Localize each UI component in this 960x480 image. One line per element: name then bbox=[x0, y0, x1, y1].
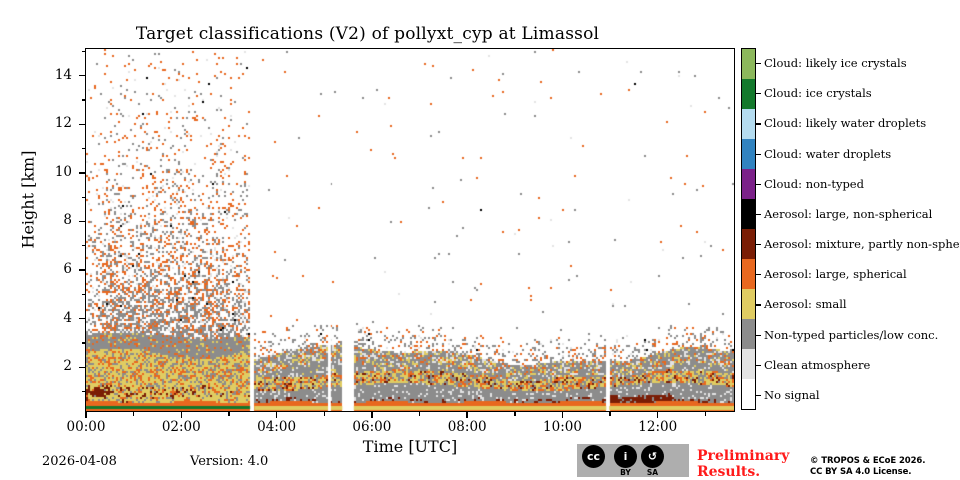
cc-by-label: BY bbox=[620, 468, 631, 477]
cc-logo-icon: cc bbox=[582, 445, 605, 477]
copyright-line-2: CC BY SA 4.0 License. bbox=[810, 467, 925, 478]
x-tick-label: 12:00 bbox=[623, 419, 693, 435]
cc-sa-label: SA bbox=[647, 468, 658, 477]
footer-date: 2026-04-08 bbox=[42, 454, 117, 469]
x-tick bbox=[371, 412, 372, 418]
legend-tick bbox=[756, 395, 761, 396]
x-tick bbox=[85, 412, 86, 418]
y-tick-minor bbox=[82, 148, 86, 149]
legend-tick bbox=[756, 214, 761, 215]
legend-tick bbox=[756, 365, 761, 366]
legend-swatch bbox=[742, 109, 755, 139]
legend-colorbar bbox=[741, 48, 756, 410]
cc-circle-icon: cc bbox=[582, 445, 605, 468]
legend-tick bbox=[756, 244, 761, 245]
x-tick-label: 02:00 bbox=[146, 419, 216, 435]
preliminary-line-1: Preliminary bbox=[697, 448, 805, 464]
legend-swatch bbox=[742, 79, 755, 109]
x-tick bbox=[181, 412, 182, 418]
legend-ticks bbox=[756, 48, 762, 410]
legend-label: Aerosol: mixture, partly non-spherical bbox=[764, 237, 960, 251]
footer-version: Version: 4.0 bbox=[190, 454, 268, 469]
y-tick-label: 4 bbox=[0, 310, 72, 326]
y-tick-minor bbox=[82, 245, 86, 246]
y-axis-label: Height [km] bbox=[19, 90, 38, 310]
preliminary-line-2: Results. bbox=[697, 464, 805, 480]
y-tick-label: 2 bbox=[0, 358, 72, 374]
legend-tick bbox=[756, 123, 761, 124]
y-tick bbox=[79, 75, 85, 76]
legend-tick bbox=[756, 63, 761, 64]
legend-swatch bbox=[742, 139, 755, 169]
y-tick bbox=[79, 221, 85, 222]
legend-label: Cloud: water droplets bbox=[764, 147, 891, 161]
x-tick-minor bbox=[228, 412, 229, 416]
x-tick-label: 08:00 bbox=[432, 419, 502, 435]
x-tick-minor bbox=[609, 412, 610, 416]
x-tick-minor bbox=[324, 412, 325, 416]
legend-label: Clean atmosphere bbox=[764, 358, 870, 372]
legend-label: Non-typed particles/low conc. bbox=[764, 328, 938, 342]
legend-label: Aerosol: small bbox=[764, 297, 847, 311]
legend-label: Cloud: likely ice crystals bbox=[764, 56, 907, 70]
legend-label: Cloud: non-typed bbox=[764, 177, 864, 191]
x-tick bbox=[466, 412, 467, 418]
y-tick bbox=[79, 318, 85, 319]
preliminary-results-notice: Preliminary Results. bbox=[697, 448, 805, 480]
legend-tick bbox=[756, 304, 761, 305]
x-tick bbox=[276, 412, 277, 418]
legend-swatch bbox=[742, 319, 755, 349]
legend-label: No signal bbox=[764, 388, 820, 402]
copyright-line-1: © TROPOS & ECoE 2026. bbox=[810, 456, 925, 467]
cc-sa-circle-icon: ↺ bbox=[641, 445, 664, 468]
y-tick-minor bbox=[82, 294, 86, 295]
classification-heatmap bbox=[86, 49, 734, 411]
legend-label: Aerosol: large, spherical bbox=[764, 267, 907, 281]
legend-tick bbox=[756, 274, 761, 275]
y-tick bbox=[79, 172, 85, 173]
x-tick-label: 10:00 bbox=[527, 419, 597, 435]
legend-swatch bbox=[742, 49, 755, 79]
page-title: Target classifications (V2) of pollyxt_c… bbox=[0, 24, 735, 44]
cc-main-spacer bbox=[592, 468, 595, 477]
y-tick bbox=[79, 269, 85, 270]
x-tick-minor bbox=[514, 412, 515, 416]
legend-swatch bbox=[742, 199, 755, 229]
x-tick-minor bbox=[705, 412, 706, 416]
x-tick bbox=[657, 412, 658, 418]
y-tick-minor bbox=[82, 99, 86, 100]
legend-swatch bbox=[742, 379, 755, 409]
legend-tick bbox=[756, 154, 761, 155]
x-tick-label: 04:00 bbox=[242, 419, 312, 435]
legend-label: Aerosol: large, non-spherical bbox=[764, 207, 932, 221]
x-tick bbox=[562, 412, 563, 418]
legend-tick bbox=[756, 335, 761, 336]
y-tick-minor bbox=[82, 197, 86, 198]
cc-by-icon: i BY bbox=[614, 445, 637, 477]
x-tick-label: 00:00 bbox=[51, 419, 121, 435]
x-tick-minor bbox=[133, 412, 134, 416]
plot-area bbox=[85, 48, 735, 412]
legend-swatch bbox=[742, 349, 755, 379]
cc-sa-icon: ↺ SA bbox=[641, 445, 664, 477]
y-tick bbox=[79, 124, 85, 125]
y-tick bbox=[79, 367, 85, 368]
legend-label: Cloud: ice crystals bbox=[764, 86, 872, 100]
legend-tick bbox=[756, 184, 761, 185]
y-tick-minor bbox=[82, 342, 86, 343]
cc-by-circle-icon: i bbox=[614, 445, 637, 468]
y-tick-minor bbox=[82, 51, 86, 52]
legend-swatch bbox=[742, 259, 755, 289]
figure-root: Target classifications (V2) of pollyxt_c… bbox=[0, 0, 960, 480]
y-tick-label: 14 bbox=[0, 67, 72, 83]
legend-swatch bbox=[742, 229, 755, 259]
creative-commons-badge[interactable]: cc i BY ↺ SA bbox=[577, 444, 689, 477]
x-tick-minor bbox=[419, 412, 420, 416]
legend-swatch bbox=[742, 289, 755, 319]
legend-tick bbox=[756, 93, 761, 94]
legend-swatch bbox=[742, 169, 755, 199]
copyright-notice: © TROPOS & ECoE 2026. CC BY SA 4.0 Licen… bbox=[810, 456, 925, 478]
x-tick-label: 06:00 bbox=[337, 419, 407, 435]
y-tick-minor bbox=[82, 391, 86, 392]
legend-label: Cloud: likely water droplets bbox=[764, 116, 926, 130]
